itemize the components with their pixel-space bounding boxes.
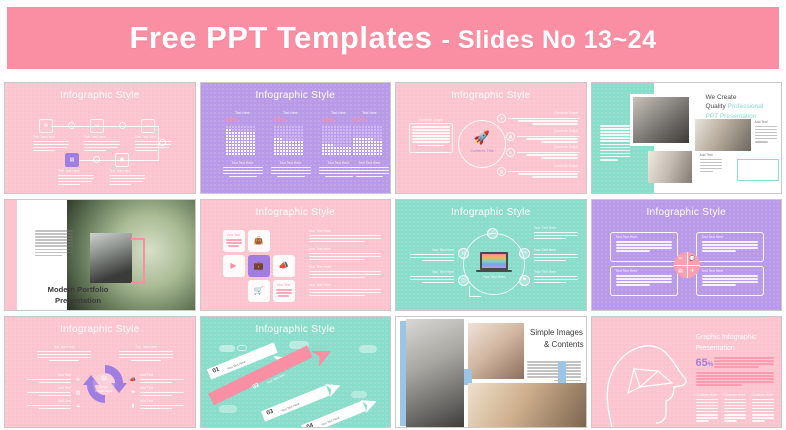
pink-frame-accent [131,238,145,284]
page-title-sub: - Slides No 13~24 [442,26,657,54]
node-label: Your Text Here [534,270,578,274]
laptop-icon [480,252,508,270]
node-label: Your Text Here [534,226,578,230]
tablet-hands-photo [648,151,692,183]
cloud-icon [219,405,237,413]
monitor-icon: ▭ [141,119,155,133]
heading-line-2: Presentation [696,344,757,355]
slide-thumbnail-15[interactable]: Infographic Style 🚀 Contents Title Conte… [395,82,587,194]
megaphone-icon: 📣 [129,376,137,384]
node-label: Your Text Here [410,270,454,274]
slide-heading: Graphic Infographic Presentation [696,333,757,355]
slide-heading: Simple Images & Contents [530,327,584,351]
portrait-photo [90,233,132,283]
center-label: Simple Presentation [93,385,115,393]
slide-title: Infographic Style [396,207,586,218]
item-label: Text Text Here [135,135,171,139]
column-label: Text Here [235,111,250,115]
rocket-icon: 🚀 [472,129,492,145]
cloud-icon: ☁ [74,402,82,410]
percent-value: 82% [226,117,239,124]
briefcase-icon: ▤ [74,389,82,397]
cloud-icon [351,391,367,398]
item-label: Contents Graph [524,111,578,115]
item-label: Text Text Here [109,169,145,173]
headline-line-2a: Quality [706,103,728,110]
column-label: Contents Here [724,393,746,397]
column-caption: Text Text Here [271,161,311,165]
top-label: Text Text Here [119,345,173,349]
heading-line-2: Presentation [43,295,113,306]
box-label: Text Text Here [702,269,724,273]
woman-writing-photo [468,323,524,379]
briefcase-icon: ▤ [676,266,686,276]
play-icon: ▶ [223,255,245,277]
slide-title: Infographic Style [201,207,391,218]
left-label: Contents Graph [412,118,450,122]
cloud-icon [219,345,235,352]
chat-icon: 💬 [688,254,698,264]
flag-icon: ⚑ [129,389,137,397]
mail-icon: ✉ [90,119,104,133]
heading-line-2: & Contents [530,339,584,351]
slide-thumbnail-20[interactable]: Infographic Style Text Text Here Text Te… [591,199,783,311]
item-label: Contents Graph [526,129,578,133]
slide-thumbnail-22[interactable]: Infographic Style 01 Your Text Here 02 Y… [200,316,392,428]
slide-thumbnail-19[interactable]: Infographic Style Your Text Here i ☺ ⚯ ⚑… [395,199,587,311]
heading-line-1: Modern Portfolio [43,284,113,295]
center-caption: Your Text Here [478,275,510,279]
headline: We Create Quality Professional PPT Prese… [706,93,764,121]
node-label: Your Text Here [534,248,578,252]
slide-thumbnail-13[interactable]: Infographic Style ✇ ✉ ▭ ▤ ▣ Text Text He… [4,82,196,194]
slide-thumbnail-18[interactable]: Infographic Style Your Text 👜 ▶ 💼 📣 🛒 Yo… [200,199,392,311]
man-reading-photo [406,319,464,428]
caption-label: Add Text [700,153,722,157]
link-icon: ⚯ [519,248,530,259]
bag-icon: 👜 [248,230,270,252]
gear-icon: ✷ [497,114,506,123]
briefcase-icon: ▤ [65,153,79,167]
head-origami-bird-outline [600,331,692,427]
slide-title: Infographic Style [396,90,586,101]
user-icon: ☺ [458,248,469,259]
slide-thumbnail-14[interactable]: Infographic Style Text Here 82% Text Tex… [200,82,392,194]
chart-icon: ▥ [497,167,506,176]
right-item-label: Add Text [140,373,184,377]
caption-label: Add Text [755,120,777,124]
slide-title: Infographic Style [5,324,195,335]
headline-line-1: We Create [706,93,764,102]
tile-label: Your Text [274,283,294,287]
column-caption: Text Text Here [351,161,389,165]
gift-icon: ✛ [688,266,698,276]
megaphone-icon: 📣 [273,255,295,277]
cloud-icon [237,345,247,351]
flag-icon: ⚑ [519,275,530,286]
slide-title: Infographic Style [592,207,782,218]
column-label: Text Here [331,111,346,115]
slide-thumbnail-17[interactable]: Modern Portfolio Presentation [4,199,196,311]
item-label: Contents Graph [526,145,578,149]
paragraph-label: Your Text Here [309,229,381,233]
stat-number: 65 [696,357,708,369]
paragraph-label: Your Text Here [309,265,381,269]
gear-icon: ✲ [97,374,111,384]
clock-icon: ◷ [458,275,469,286]
center-label: Contents Title [462,149,502,153]
page-title: Free PPT Templates - Slides No 13~24 [129,20,656,56]
percent-value: 53% [274,117,287,124]
box-label: Text Text Here [616,269,638,273]
right-item-label: Add Text [140,386,184,390]
slide-title: Infographic Style [201,324,391,335]
stat-value: 65% [696,357,714,369]
page-header-banner: Free PPT Templates - Slides No 13~24 [7,7,779,69]
share-icon: ✇ [39,119,53,133]
ppt-template-gallery: Free PPT Templates - Slides No 13~24 Inf… [0,0,786,430]
box-label: Text Text Here [616,235,638,239]
stat-unit: % [708,362,713,368]
column-label: Contents Here [752,393,774,397]
heading-line-1: Simple Images [530,327,584,339]
book-icon: ▮ [129,402,137,410]
info-icon: i [487,228,498,239]
slide-title: Infographic Style [5,90,195,101]
briefcase-icon: 💼 [248,255,270,277]
cart-icon: 🛒 [248,280,270,302]
coffee-notebook-photo [695,119,751,151]
accent-frame [737,159,779,181]
left-item-label: Add Text [27,386,71,390]
item-label: Text Text Here [33,135,69,139]
puzzle-icon: ✣ [74,376,82,384]
box-label: Text Text Here [702,235,724,239]
percent-value: 57% [353,117,366,124]
accent-bar-right [558,361,566,383]
desk-workspace-photo [630,94,692,146]
column-caption: Text Text Here [223,161,263,165]
slide-thumbnail-16[interactable]: We Create Quality Professional PPT Prese… [591,82,783,194]
open-book-hands-photo [468,383,586,428]
slide-thumbnail-23[interactable]: Simple Images & Contents [395,316,587,428]
page-title-main: Free PPT Templates [129,20,432,55]
left-item-label: Add Text [27,399,71,403]
heading-line-1: Graphic Infographic [696,333,757,344]
column-label: Text Here [283,111,298,115]
slide-heading: Modern Portfolio Presentation [43,284,113,307]
target-icon: ◎ [506,148,515,157]
column-label: Contents Here [696,393,718,397]
box-icon: ▣ [115,153,129,167]
slide-thumbnail-grid: Infographic Style ✇ ✉ ▭ ▤ ▣ Text Text He… [4,82,782,428]
paragraph-label: Your Text Here [309,247,381,251]
column-label: Text Here [362,111,377,115]
cloud-icon [359,345,377,353]
left-item-label: Add Text [27,373,71,377]
node-label: Your Text Here [410,248,454,252]
calculator-icon: ▦ [506,132,515,141]
headline-line-2b: Professional [728,103,764,110]
right-item-label: Add Text [140,399,184,403]
slide-thumbnail-24[interactable]: Graphic Infographic Presentation 65% Con… [591,316,783,428]
slide-title: Infographic Style [201,90,391,101]
item-label: Text Text Here [58,169,94,173]
percent-value: 34% [322,117,335,124]
tile-label: Your Text [224,233,244,237]
slide-thumbnail-21[interactable]: Infographic Style ✲ Simple Presentation … [4,316,196,428]
tools-icon: ✂ [676,254,686,264]
item-label: Text Text Here [84,135,120,139]
item-label: Contents Graph [524,164,578,168]
top-label: Text Text Here [37,345,91,349]
paragraph-label: Your Text Here [309,283,381,287]
